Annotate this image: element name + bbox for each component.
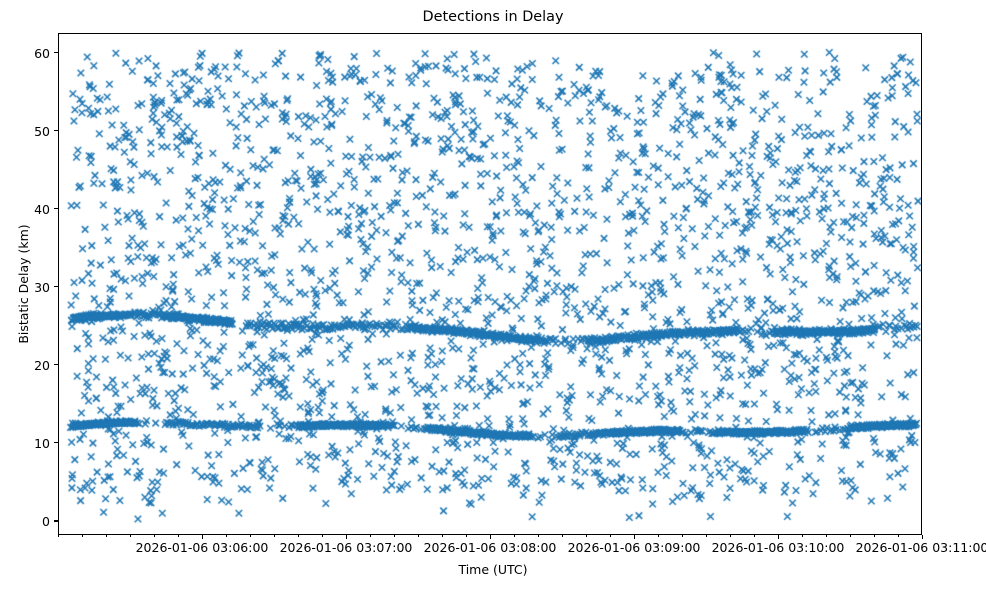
x-minor-tick-mark	[130, 535, 131, 537]
x-tick-mark	[346, 535, 347, 539]
y-axis-label: Bistatic Delay (km)	[16, 33, 32, 535]
x-minor-tick-mark	[418, 535, 419, 537]
y-tick-mark	[54, 286, 58, 287]
x-minor-tick-mark	[586, 535, 587, 537]
x-minor-tick-mark	[754, 535, 755, 537]
x-minor-tick-mark	[682, 535, 683, 537]
x-minor-tick-mark	[178, 535, 179, 537]
y-tick-mark	[54, 442, 58, 443]
x-minor-tick-mark	[898, 535, 899, 537]
x-minor-tick-mark	[874, 535, 875, 537]
x-tick-label: 2026-01-06 03:11:00	[812, 540, 986, 555]
x-tick-mark	[922, 535, 923, 539]
plot-area	[58, 33, 922, 535]
x-minor-tick-mark	[514, 535, 515, 537]
x-minor-tick-mark	[226, 535, 227, 537]
x-minor-tick-mark	[394, 535, 395, 537]
x-minor-tick-mark	[250, 535, 251, 537]
scatter-points	[59, 34, 922, 535]
x-minor-tick-mark	[322, 535, 323, 537]
x-minor-tick-mark	[610, 535, 611, 537]
x-tick-mark	[778, 535, 779, 539]
x-minor-tick-mark	[106, 535, 107, 537]
x-minor-tick-mark	[274, 535, 275, 537]
x-minor-tick-mark	[538, 535, 539, 537]
x-minor-tick-mark	[82, 535, 83, 537]
page-title: Detections in Delay	[0, 8, 986, 26]
x-axis-label: Time (UTC)	[0, 562, 986, 577]
y-tick-mark	[54, 364, 58, 365]
y-tick-mark	[54, 130, 58, 131]
x-minor-tick-mark	[154, 535, 155, 537]
x-minor-tick-mark	[802, 535, 803, 537]
x-minor-tick-mark	[562, 535, 563, 537]
x-minor-tick-mark	[658, 535, 659, 537]
x-tick-mark	[202, 535, 203, 539]
x-minor-tick-mark	[442, 535, 443, 537]
x-tick-mark	[634, 535, 635, 539]
x-minor-tick-mark	[850, 535, 851, 537]
x-tick-mark	[490, 535, 491, 539]
x-minor-tick-mark	[730, 535, 731, 537]
x-minor-tick-mark	[370, 535, 371, 537]
y-tick-mark	[54, 520, 58, 521]
x-minor-tick-mark	[706, 535, 707, 537]
y-tick-mark	[54, 52, 58, 53]
x-minor-tick-mark	[58, 535, 59, 537]
matplotlib-figure: Detections in Delay 0102030405060 2026-0…	[0, 0, 986, 590]
y-tick-mark	[54, 208, 58, 209]
x-minor-tick-mark	[826, 535, 827, 537]
x-minor-tick-mark	[298, 535, 299, 537]
x-minor-tick-mark	[466, 535, 467, 537]
